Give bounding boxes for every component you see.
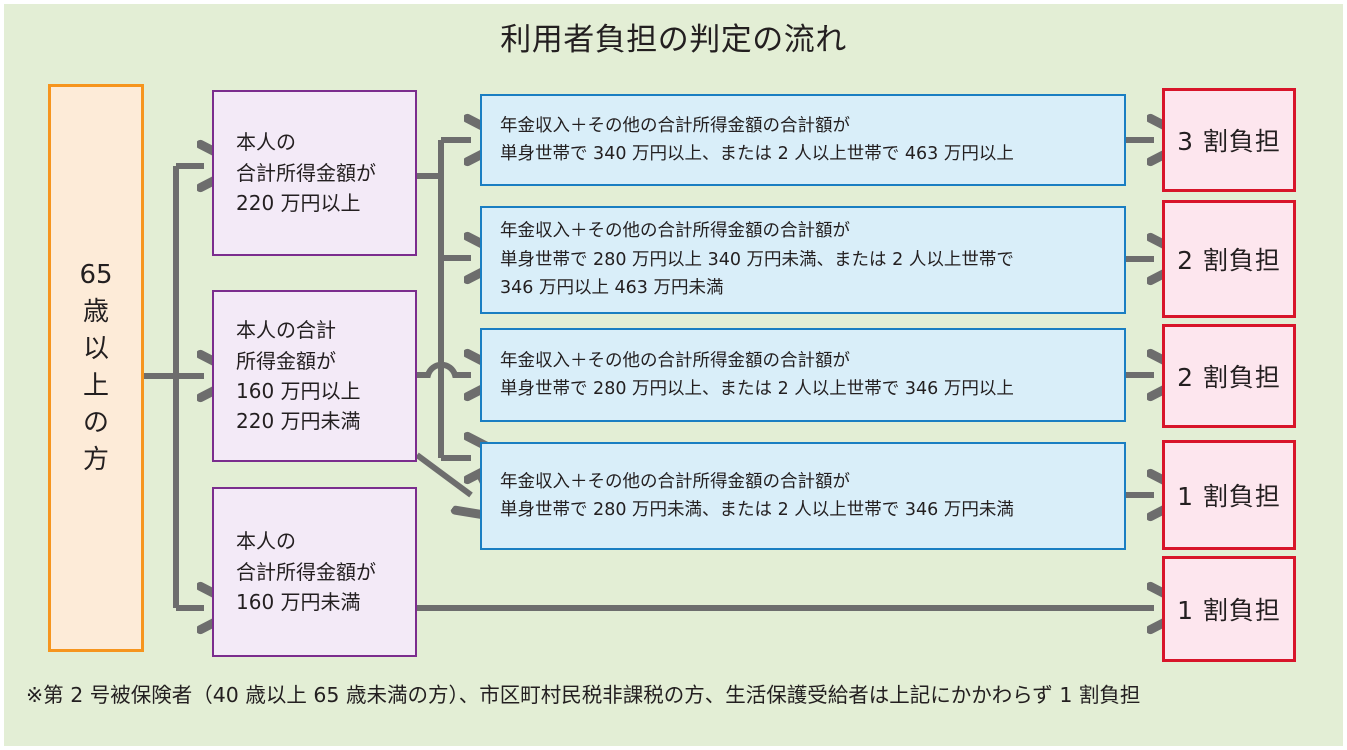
condition-line: 220 万円以上 [236,188,415,218]
condition-line: 160 万円未満 [236,587,415,617]
result-box-2wari-b: 2 割負担 [1162,324,1296,428]
result-label: 2 割負担 [1177,358,1281,394]
detail-box-3wari: 年金収入＋その他の合計所得金額の合計額が 単身世帯で 340 万円以上、または … [480,94,1126,186]
condition-box-income-160-220: 本人の合計 所得金額が 160 万円以上 220 万円未満 [212,290,417,462]
condition-line: 160 万円以上 [236,376,415,406]
detail-line: 単身世帯で 280 万円以上 340 万円未満、または 2 人以上世帯で [500,246,1124,274]
condition-line: 本人の [236,127,415,157]
result-box-1wari-a: 1 割負担 [1162,440,1296,550]
start-box-line: 以 [79,331,112,368]
detail-box-1wari: 年金収入＋その他の合計所得金額の合計額が 単身世帯で 280 万円未満、または … [480,442,1126,550]
detail-line: 年金収入＋その他の合計所得金額の合計額が [500,468,1124,496]
condition-line: 合計所得金額が [236,158,415,188]
result-label: 1 割負担 [1177,477,1281,513]
start-box-age: 65 歳 以 上 の 方 [48,84,144,652]
condition-line: 所得金額が [236,346,415,376]
start-box-line: の [79,405,112,442]
page-title: 利用者負担の判定の流れ [0,14,1347,59]
result-box-1wari-b: 1 割負担 [1162,556,1296,662]
result-box-3wari: 3 割負担 [1162,88,1296,192]
detail-box-2wari-a: 年金収入＋その他の合計所得金額の合計額が 単身世帯で 280 万円以上 340 … [480,206,1126,314]
result-label: 1 割負担 [1177,591,1281,627]
detail-line: 年金収入＋その他の合計所得金額の合計額が [500,347,1124,375]
condition-line: 220 万円未満 [236,406,415,436]
detail-line: 346 万円以上 463 万円未満 [500,274,1124,302]
condition-box-income-160-under: 本人の 合計所得金額が 160 万円未満 [212,487,417,657]
result-label: 2 割負担 [1177,241,1281,277]
detail-line: 単身世帯で 340 万円以上、または 2 人以上世帯で 463 万円以上 [500,140,1124,168]
condition-box-income-220-over: 本人の 合計所得金額が 220 万円以上 [212,90,417,256]
detail-line: 年金収入＋その他の合計所得金額の合計額が [500,112,1124,140]
start-box-line: 65 [79,257,112,294]
detail-box-2wari-b: 年金収入＋その他の合計所得金額の合計額が 単身世帯で 280 万円以上、または … [480,328,1126,422]
detail-line: 年金収入＋その他の合計所得金額の合計額が [500,217,1124,245]
condition-line: 合計所得金額が [236,557,415,587]
footnote: ※第 2 号被保険者（40 歳以上 65 歳未満の方）、市区町村民税非課税の方、… [26,678,1140,708]
detail-line: 単身世帯で 280 万円以上、または 2 人以上世帯で 346 万円以上 [500,375,1124,403]
result-box-2wari-a: 2 割負担 [1162,200,1296,318]
start-box-line: 上 [79,368,112,405]
result-label: 3 割負担 [1177,122,1281,158]
condition-line: 本人の [236,526,415,556]
diagram-canvas: 利用者負担の判定の流れ [0,0,1347,750]
start-box-label: 65 歳 以 上 の 方 [79,257,112,478]
detail-line: 単身世帯で 280 万円未満、または 2 人以上世帯で 346 万円未満 [500,496,1124,524]
start-box-line: 方 [79,442,112,479]
start-box-line: 歳 [79,294,112,331]
condition-line: 本人の合計 [236,315,415,345]
